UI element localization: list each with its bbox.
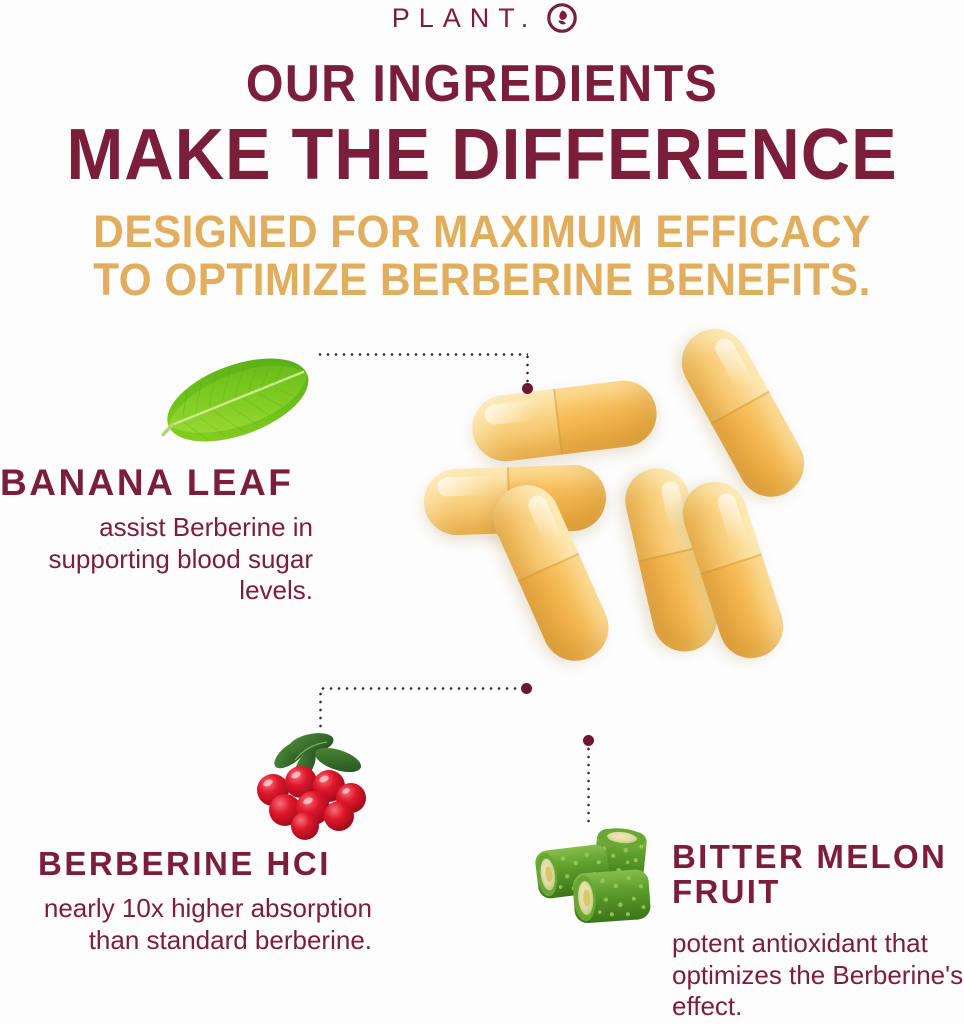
subheadline: DESIGNED FOR MAXIMUM EFFICACY TO OPTIMIZ… (29, 208, 935, 303)
ingredient-title-banana-leaf: BANANA LEAF (0, 463, 330, 502)
capsules-product-image (430, 380, 830, 720)
connector-line-banana-horizontal (316, 353, 528, 356)
capsule (469, 377, 661, 465)
leaf-in-circle-icon (546, 2, 578, 34)
barberry-berries-image (243, 718, 379, 836)
subheadline-line-2: TO OPTIMIZE BERBERINE BENEFITS. (29, 256, 935, 304)
subheadline-line-1: DESIGNED FOR MAXIMUM EFFICACY (29, 208, 935, 256)
connector-endpoint-banana (522, 383, 533, 394)
bitter-melon-slices-image (532, 822, 680, 934)
ingredient-body-berberine-hcl: nearly 10x higher absorption than standa… (20, 893, 372, 956)
connector-endpoint-melon (583, 735, 594, 746)
headline-line-2: MAKE THE DIFFERENCE (24, 119, 940, 191)
ingredient-title-berberine-hcl: BERBERINE HCI (38, 847, 378, 882)
headline-line-1: OUR INGREDIENTS (34, 58, 931, 110)
connector-line-melon-vertical (587, 745, 590, 823)
brand-wordmark: PLANT. (386, 5, 538, 32)
brand-logo: PLANT. (0, 2, 964, 34)
ingredient-title-bitter-melon: BITTER MELON FRUIT (672, 840, 964, 910)
banana-leaf-image (150, 342, 320, 460)
connector-line-banana-vertical (526, 353, 529, 384)
capsule (670, 317, 816, 508)
ingredient-body-bitter-melon: potent antioxidant that optimizes the Be… (672, 928, 964, 1023)
infographic-canvas: PLANT. OUR INGREDIENTS MAKE THE DIFFEREN… (0, 0, 964, 1024)
connector-line-berberine-horizontal (319, 687, 523, 690)
ingredient-body-banana-leaf: assist Berberine in supporting blood sug… (0, 512, 313, 607)
connector-endpoint-berberine (521, 683, 532, 694)
